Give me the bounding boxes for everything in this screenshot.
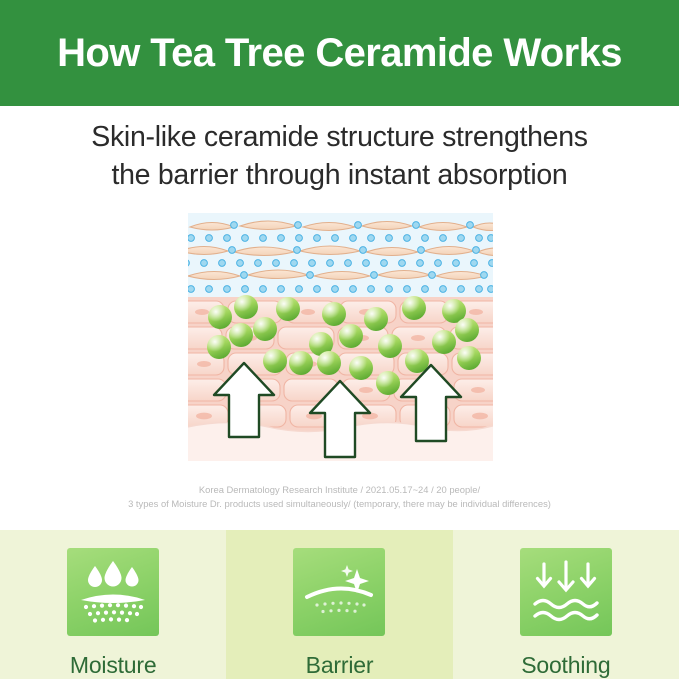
benefit-card-moisture[interactable]: Moisture	[0, 530, 226, 679]
down-arrows-over-waves-icon	[530, 559, 602, 625]
benefit-label-moisture: Moisture	[70, 652, 157, 679]
skin-diagram-svg	[188, 213, 493, 461]
down-arrow-icon	[537, 562, 594, 590]
benefit-card-soothing[interactable]: Soothing	[453, 530, 679, 679]
water-drops-on-skin-icon	[77, 559, 149, 625]
moisture-icon-tile	[67, 548, 159, 636]
subtitle-block: Skin-like ceramide structure strengthens…	[0, 118, 679, 194]
benefit-card-barrier[interactable]: Barrier	[226, 530, 452, 679]
benefit-label-soothing: Soothing	[521, 652, 610, 679]
benefits-strip: Moisture Barrier	[0, 530, 679, 679]
caption-line-1: Korea Dermatology Research Institute / 2…	[0, 483, 679, 497]
study-caption: Korea Dermatology Research Institute / 2…	[0, 483, 679, 511]
benefit-label-barrier: Barrier	[306, 652, 374, 679]
barrier-icon-tile	[293, 548, 385, 636]
wave-lines-icon	[535, 601, 597, 620]
skin-barrier-shield-sparkle-icon	[303, 559, 375, 625]
subtitle-line-2: the barrier through instant absorption	[0, 156, 679, 194]
skin-cross-section-illustration	[188, 213, 493, 461]
page-title: How Tea Tree Ceramide Works	[57, 31, 622, 76]
soothing-icon-tile	[520, 548, 612, 636]
subtitle-line-1: Skin-like ceramide structure strengthens	[0, 118, 679, 156]
header-banner: How Tea Tree Ceramide Works	[0, 0, 679, 106]
caption-line-2: 3 types of Moisture Dr. products used si…	[0, 497, 679, 511]
